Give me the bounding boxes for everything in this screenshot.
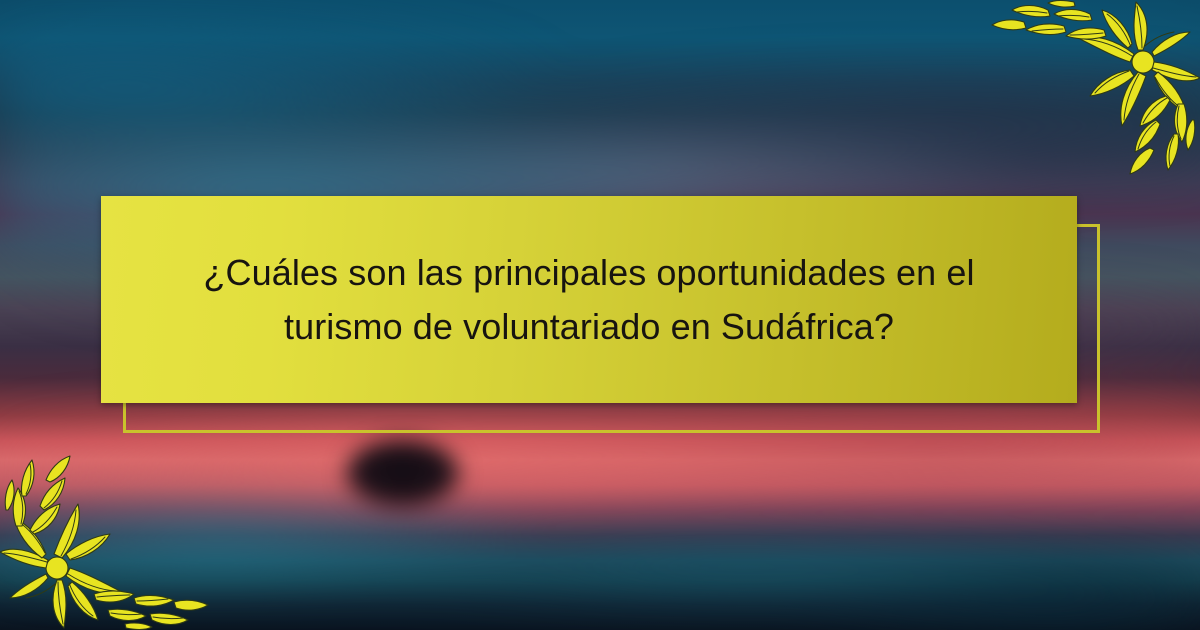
question-title: ¿Cuáles son las principales oportunidade… [189, 246, 989, 354]
question-card: ¿Cuáles son las principales oportunidade… [101, 196, 1077, 403]
question-card-banner: ¿Cuáles son las principales oportunidade… [0, 0, 1200, 630]
